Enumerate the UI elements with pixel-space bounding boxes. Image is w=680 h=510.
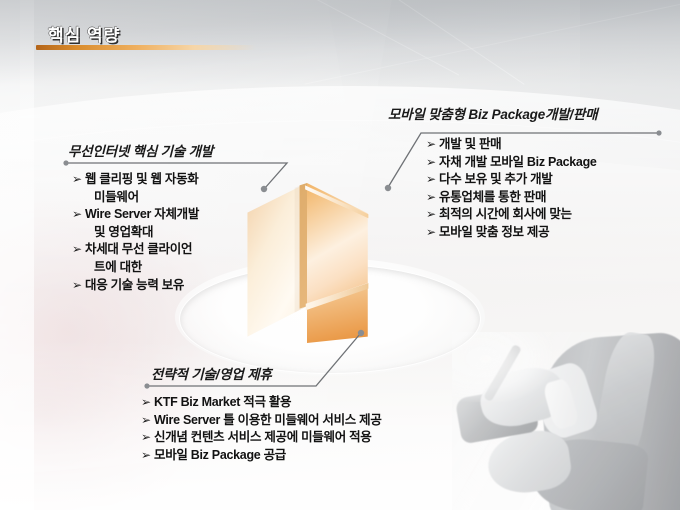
bullet-item: 및 영업확대 bbox=[72, 224, 213, 242]
bullet-item: ➢다수 보유 및 추가 개발 bbox=[426, 171, 597, 189]
bullet-text: 차세대 무선 클라이언 bbox=[85, 242, 192, 256]
block-left-bullet-list: ➢웹 클리핑 및 웹 자동화미들웨어➢Wire Server 자체개발및 영업확… bbox=[72, 171, 213, 294]
bullet-text: Wire Server 틀 이용한 미들웨어 서비스 제공 bbox=[154, 413, 382, 427]
bullet-arrow-icon: ➢ bbox=[426, 171, 436, 189]
bullet-text: 유통업체를 통한 판매 bbox=[439, 190, 546, 204]
block-right-heading: 모바일 맞춤형 Biz Package개발/판매 bbox=[388, 103, 597, 123]
bullet-text: 미들웨어 bbox=[94, 190, 139, 204]
title-underline-accent bbox=[36, 45, 256, 50]
bullet-arrow-icon: ➢ bbox=[141, 412, 151, 430]
bullet-item: ➢대응 기술 능력 보유 bbox=[72, 277, 213, 295]
bullet-arrow-icon: ➢ bbox=[426, 189, 436, 207]
photo-fade-overlay bbox=[452, 332, 680, 510]
bullet-text: Wire Server 자체개발 bbox=[85, 207, 199, 221]
bullet-text: KTF Biz Market 적극 활용 bbox=[154, 395, 291, 409]
bullet-text: 대응 기술 능력 보유 bbox=[85, 278, 184, 292]
bullet-item: ➢유통업체를 통한 판매 bbox=[426, 189, 597, 207]
bullet-item: ➢모바일 Biz Package 공급 bbox=[141, 447, 382, 465]
text-block-bottom: 전략적 기술/영업 제휴 ➢KTF Biz Market 적극 활용➢Wire … bbox=[151, 363, 382, 464]
bullet-text: 모바일 Biz Package 공급 bbox=[154, 448, 286, 462]
bullet-text: 개발 및 판매 bbox=[439, 137, 501, 151]
bullet-item: ➢개발 및 판매 bbox=[426, 136, 597, 154]
bullet-item: ➢KTF Biz Market 적극 활용 bbox=[141, 394, 382, 412]
bullet-text: 신개념 컨텐츠 서비스 제공에 미들웨어 적용 bbox=[154, 430, 371, 444]
bullet-arrow-icon: ➢ bbox=[141, 447, 151, 465]
bullet-arrow-icon: ➢ bbox=[72, 241, 82, 259]
bullet-text: 자채 개발 모바일 Biz Package bbox=[439, 155, 597, 169]
bullet-text: 웹 클리핑 및 웹 자동화 bbox=[85, 172, 199, 186]
block-bottom-bullet-list: ➢KTF Biz Market 적극 활용➢Wire Server 틀 이용한 … bbox=[141, 394, 382, 464]
bullet-item: ➢차세대 무선 클라이언 bbox=[72, 241, 213, 259]
bullet-item: ➢모바일 맞춤 정보 제공 bbox=[426, 224, 597, 242]
bullet-arrow-icon: ➢ bbox=[72, 277, 82, 295]
bullet-text: 최적의 시간에 회사에 맞는 bbox=[439, 207, 572, 221]
bullet-arrow-icon: ➢ bbox=[426, 136, 436, 154]
bullet-item: 트에 대한 bbox=[72, 259, 213, 277]
bullet-item: ➢웹 클리핑 및 웹 자동화 bbox=[72, 171, 213, 189]
block-left-heading: 무선인터넷 핵심 기술 개발 bbox=[68, 140, 213, 160]
bullet-item: ➢자채 개발 모바일 Biz Package bbox=[426, 154, 597, 172]
bullet-arrow-icon: ➢ bbox=[72, 206, 82, 224]
bullet-arrow-icon: ➢ bbox=[72, 171, 82, 189]
bullet-text: 및 영업확대 bbox=[94, 225, 153, 239]
text-block-left: 무선인터넷 핵심 기술 개발 ➢웹 클리핑 및 웹 자동화미들웨어➢Wire S… bbox=[68, 140, 213, 294]
businessman-pda-photo bbox=[452, 332, 680, 510]
cube-3d-graphic bbox=[245, 183, 369, 343]
bullet-item: ➢최적의 시간에 회사에 맞는 bbox=[426, 206, 597, 224]
bullet-text: 다수 보유 및 추가 개발 bbox=[439, 172, 553, 186]
bullet-arrow-icon: ➢ bbox=[141, 429, 151, 447]
block-right-bullet-list: ➢개발 및 판매➢자채 개발 모바일 Biz Package➢다수 보유 및 추… bbox=[426, 136, 597, 242]
bullet-text: 트에 대한 bbox=[94, 260, 142, 274]
bullet-text: 모바일 맞춤 정보 제공 bbox=[439, 225, 549, 239]
bullet-arrow-icon: ➢ bbox=[141, 394, 151, 412]
bullet-item: 미들웨어 bbox=[72, 189, 213, 207]
bullet-arrow-icon: ➢ bbox=[426, 206, 436, 224]
bullet-item: ➢Wire Server 틀 이용한 미들웨어 서비스 제공 bbox=[141, 412, 382, 430]
bullet-arrow-icon: ➢ bbox=[426, 154, 436, 172]
bullet-item: ➢신개념 컨텐츠 서비스 제공에 미들웨어 적용 bbox=[141, 429, 382, 447]
page-title: 핵심 역량 bbox=[48, 21, 120, 46]
slide-canvas: 핵심 역량 bbox=[0, 0, 680, 510]
bullet-item: ➢Wire Server 자체개발 bbox=[72, 206, 213, 224]
bullet-arrow-icon: ➢ bbox=[426, 224, 436, 242]
text-block-right: 모바일 맞춤형 Biz Package개발/판매 ➢개발 및 판매➢자채 개발 … bbox=[388, 103, 597, 242]
block-bottom-heading: 전략적 기술/영업 제휴 bbox=[151, 363, 382, 383]
